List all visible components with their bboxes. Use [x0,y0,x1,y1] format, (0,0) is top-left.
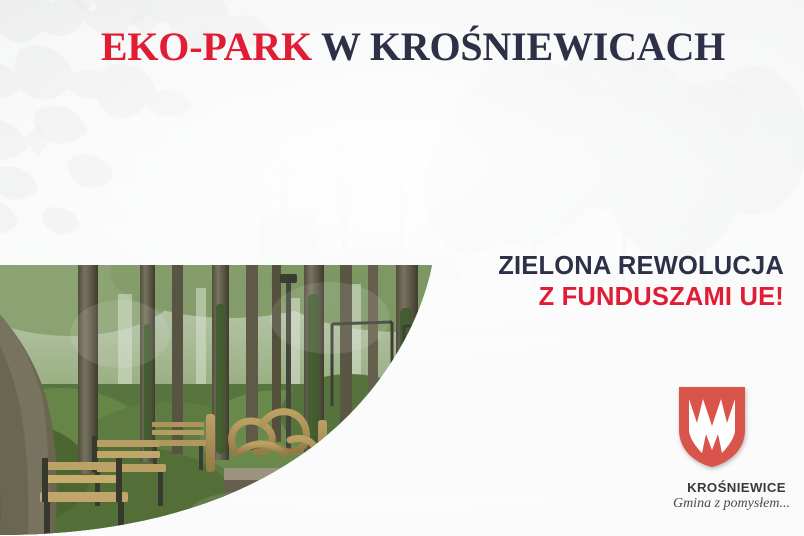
municipality-logo: KROŚNIEWICE Gmina z pomysłem... [650,386,790,512]
title-highlight: EKO-PARK [101,24,312,69]
krosniewice-coat-of-arms-icon [678,386,746,468]
subtitle: ZIELONA REWOLUCJA Z FUNDUSZAMI UE! [498,251,784,313]
logo-municipality-name: KROŚNIEWICE [650,480,786,495]
logo-tagline: Gmina z pomysłem... [650,496,790,512]
subtitle-line-2: Z FUNDUSZAMI UE! [498,282,784,313]
subtitle-line-1: ZIELONA REWOLUCJA [498,251,784,282]
poster-canvas: EKO-PARK W KROŚNIEWICACH ZIELONA REWOLUC… [0,0,804,536]
page-title: EKO-PARK W KROŚNIEWICACH [0,27,804,67]
title-rest: W KROŚNIEWICACH [312,24,725,69]
